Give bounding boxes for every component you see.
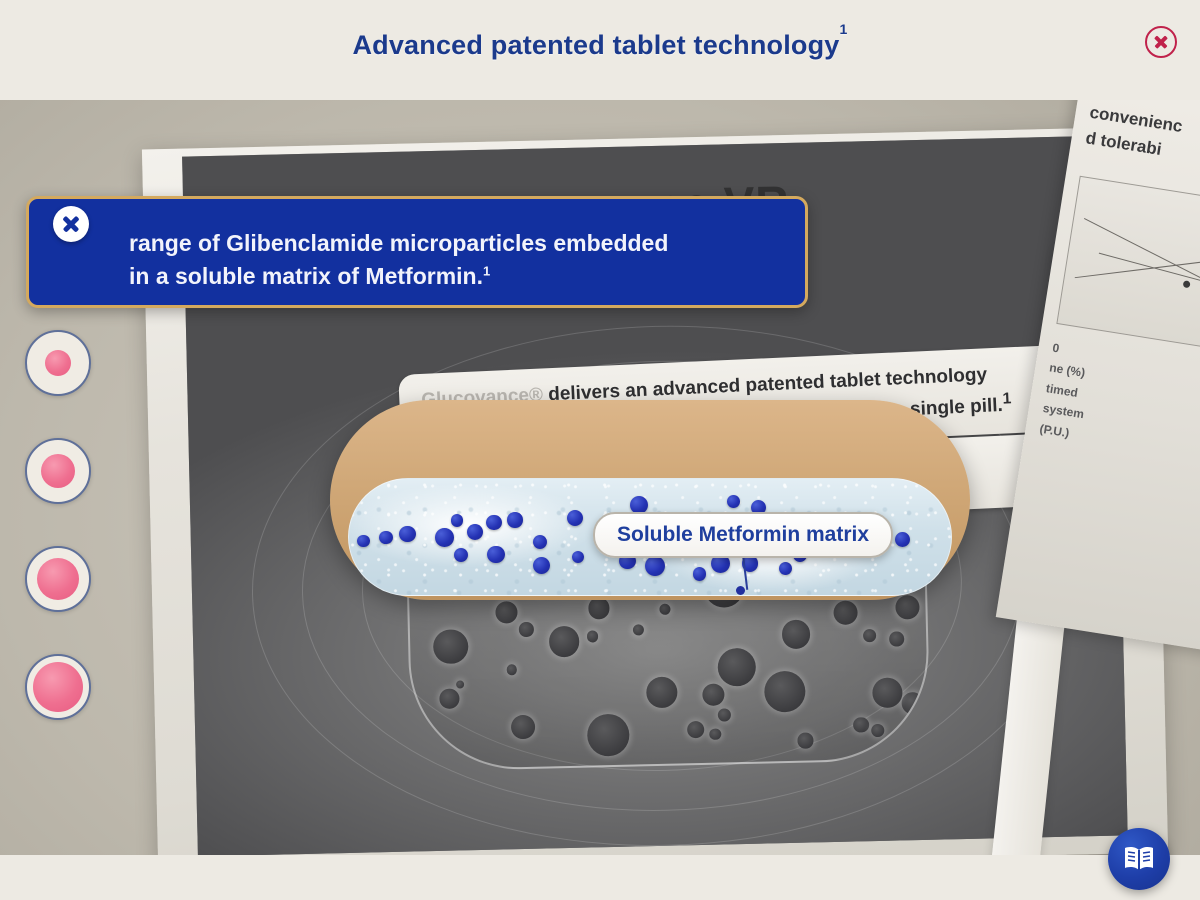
tablet-pore: [703, 684, 726, 707]
glibenclamide-microparticle: [507, 512, 522, 527]
tablet-pore: [433, 629, 468, 664]
glibenclamide-microparticle: [693, 567, 707, 581]
callout-superscript: 1: [483, 264, 490, 279]
glibenclamide-microparticle: [467, 524, 483, 540]
tablet-pore: [495, 601, 517, 623]
tablet-pore: [646, 677, 677, 708]
soluble-metformin-matrix-label-text: Soluble Metformin matrix: [617, 523, 869, 546]
open-book-icon: [1122, 844, 1156, 874]
tablet-pore: [871, 724, 884, 737]
glibenclamide-microparticle: [895, 532, 910, 547]
tablet-pore: [764, 671, 806, 713]
tablet-pore: [456, 680, 464, 688]
glibenclamide-microparticle: [572, 551, 584, 563]
nav-dot-2[interactable]: [25, 438, 91, 504]
tablet-pore: [587, 630, 599, 642]
glibenclamide-microparticle: [533, 557, 550, 574]
nav-dot-1-inner: [45, 350, 71, 376]
nav-dot-4-inner: [33, 662, 83, 712]
label-anchor-dot: [736, 586, 745, 595]
right-page-chart: [1056, 176, 1200, 359]
page-title-superscript: 1: [840, 21, 848, 37]
tablet-pore: [633, 624, 644, 635]
glibenclamide-microparticle: [357, 535, 369, 547]
tablet-pore: [709, 728, 721, 740]
tablet-pore: [889, 631, 904, 646]
chart-line: [1099, 253, 1200, 298]
tablet-pore: [833, 600, 857, 624]
tablet-pore: [717, 647, 756, 686]
nav-dot-4[interactable]: [25, 654, 91, 720]
glibenclamide-microparticle: [567, 510, 583, 526]
tablet-pore: [781, 619, 810, 648]
ar-tablet-model[interactable]: [330, 400, 970, 600]
glibenclamide-microparticle: [779, 562, 792, 575]
dot-navigation: [25, 330, 95, 762]
glibenclamide-microparticle: [727, 495, 740, 508]
tablet-pore: [718, 709, 731, 722]
tablet-pore: [588, 598, 610, 620]
glibenclamide-microparticle: [399, 526, 416, 543]
tablet-pore: [548, 626, 579, 657]
chart-data-point: [1183, 280, 1191, 288]
tablet-pore: [863, 629, 876, 642]
nav-dot-3[interactable]: [25, 546, 91, 612]
info-callout: range of Glibenclamide microparticles em…: [26, 196, 808, 308]
tablet-pore: [507, 665, 518, 676]
references-button[interactable]: [1108, 828, 1170, 890]
tablet-pore: [439, 689, 459, 709]
callout-line-2: in a soluble matrix of Metformin.: [129, 263, 483, 289]
nav-dot-3-inner: [37, 558, 79, 600]
callout-close-icon[interactable]: [53, 206, 89, 242]
tablet-pore: [687, 721, 704, 738]
glibenclamide-microparticle: [533, 535, 547, 549]
glibenclamide-microparticle: [486, 515, 502, 531]
close-icon[interactable]: [1145, 26, 1177, 58]
page-title-text: Advanced patented tablet technology: [352, 30, 839, 60]
glibenclamide-microparticle: [451, 514, 464, 527]
tablet-pore: [659, 604, 670, 615]
glibenclamide-microparticle: [645, 556, 665, 576]
glibenclamide-microparticle: [435, 528, 454, 547]
glibenclamide-microparticle: [487, 546, 505, 564]
page-title: Advanced patented tablet technology1: [0, 30, 1200, 61]
callout-text: range of Glibenclamide microparticles em…: [129, 227, 781, 294]
nav-dot-1[interactable]: [25, 330, 91, 396]
tablet-pore: [853, 717, 869, 733]
soluble-metformin-matrix-label: Soluble Metformin matrix: [593, 512, 893, 558]
tablet-pore: [872, 677, 903, 708]
tablet-pore: [511, 715, 536, 740]
right-page-small-text: 0 ne (%) timed system (P.U.): [1038, 338, 1200, 473]
top-bar: Advanced patented tablet technology1: [0, 0, 1200, 100]
brochure-card1-superscript: 1: [1002, 390, 1012, 407]
glibenclamide-microparticle: [454, 548, 468, 562]
callout-line-1: range of Glibenclamide microparticles em…: [129, 230, 668, 256]
tablet-pore: [798, 733, 814, 749]
nav-dot-2-inner: [41, 454, 75, 488]
glibenclamide-microparticle: [379, 531, 393, 545]
bottom-bar: [0, 855, 1200, 900]
tablet-pore: [519, 622, 534, 637]
tablet-pore: [587, 714, 630, 757]
